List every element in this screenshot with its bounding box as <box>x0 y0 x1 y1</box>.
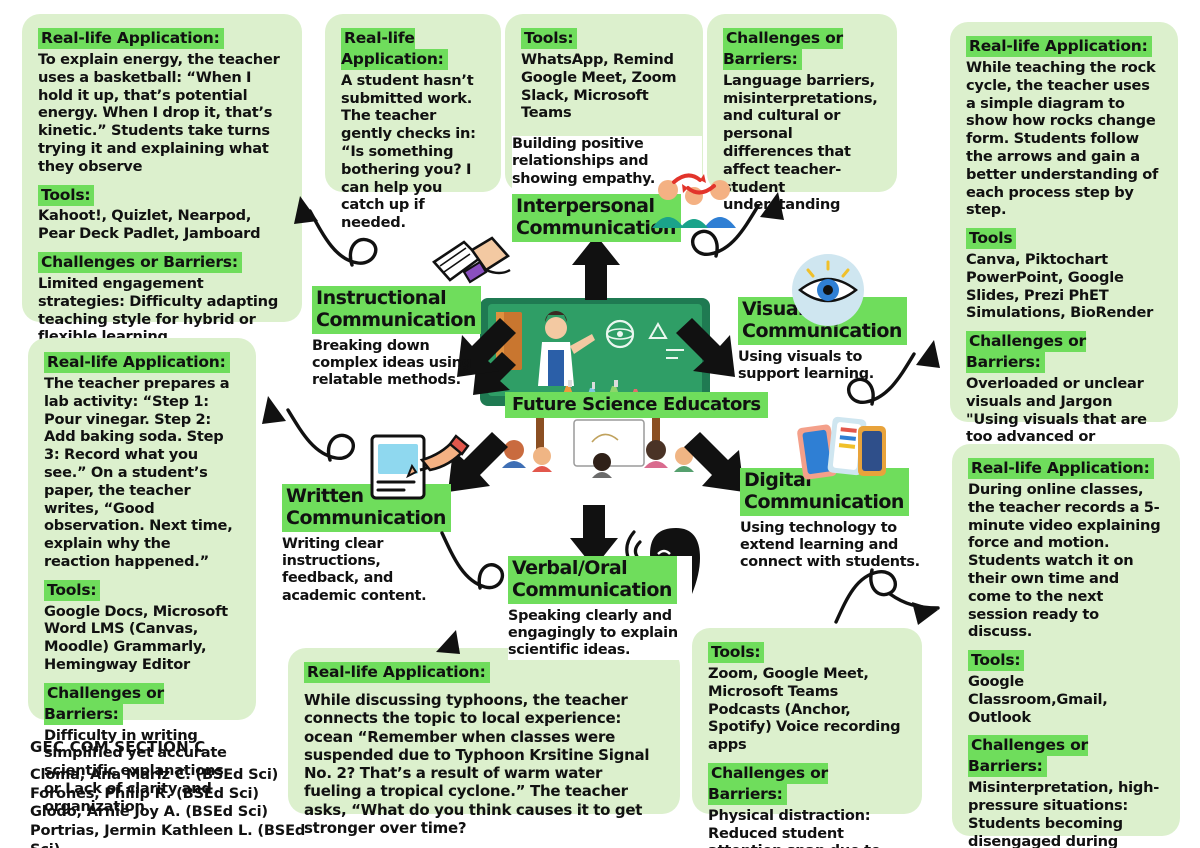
interpersonal-application-heading: Real-life Application: <box>341 28 448 70</box>
instructional-challenges-text: Limited engagement strategies: Difficult… <box>38 275 286 346</box>
node-digital-desc: Using technology to extend learning and … <box>740 520 922 572</box>
visual-application-heading: Real-life Application: <box>966 36 1152 57</box>
credits-member: Cloma, Ana Mariz C. (BSEd Sci) <box>30 766 320 785</box>
card-verbal-application: Real-life Application: While discussing … <box>288 648 680 814</box>
written-tools-heading: Tools: <box>44 580 100 601</box>
verbal-application-heading: Real-life Application: <box>304 662 490 683</box>
node-verbal: Verbal/Oral Communication Speaking clear… <box>508 556 692 660</box>
verbal-tools-heading: Tools: <box>708 642 764 663</box>
digital-challenges-heading: Challenges or Barriers: <box>968 735 1088 777</box>
node-verbal-title: Verbal/Oral Communication <box>508 556 677 604</box>
digital-challenges-text: Misinterpretation, high-pressure situati… <box>968 779 1164 848</box>
card-verbal-tools: Tools: Zoom, Google Meet, Microsoft Team… <box>692 628 922 814</box>
visual-tools-heading: Tools <box>966 228 1016 249</box>
writing-hand-icon <box>368 430 476 506</box>
node-written-desc: Writing clear instructions, feedback, an… <box>282 536 456 605</box>
instructional-tools-text: Kahoot!, Quizlet, Nearpod, Pear Deck Pad… <box>38 207 286 243</box>
written-challenges-heading: Challenges or Barriers: <box>44 683 164 725</box>
instructional-tools-heading: Tools: <box>38 185 94 206</box>
card-instructional: Real-life Application: To explain energy… <box>22 14 302 322</box>
card-digital: Real-life Application: During online cla… <box>952 444 1180 836</box>
credits-member: Portrias, Jermin Kathleen L. (BSEd Sci) <box>30 822 320 848</box>
digital-application-text: During online classes, the teacher recor… <box>968 481 1164 641</box>
credits-member: Glodo, Arnie Joy A. (BSEd Sci) <box>30 803 320 822</box>
verbal-challenges-heading: Challenges or Barriers: <box>708 763 828 805</box>
card-interpersonal-challenges: Challenges or Barriers: Language barrier… <box>707 14 897 192</box>
interpersonal-challenges-heading: Challenges or Barriers: <box>723 28 843 70</box>
instructional-challenges-heading: Challenges or Barriers: <box>38 252 242 273</box>
node-visual-desc: Using visuals to support learning. <box>738 349 908 384</box>
verbal-challenges-text: Physical distraction: Reduced student at… <box>708 807 906 848</box>
interpersonal-tools-text: WhatsApp, Remind Google Meet, Zoom Slack… <box>521 51 687 122</box>
digital-tools-text: Google Classroom,Gmail, Outlook <box>968 673 1164 726</box>
open-book-icon <box>428 232 514 304</box>
instructional-application-heading: Real-life Application: <box>38 28 224 49</box>
visual-application-text: While teaching the rock cycle, the teach… <box>966 59 1162 219</box>
squiggle-arrow-left-icon <box>262 396 353 460</box>
verbal-application-text: While discussing typhoons, the teacher c… <box>304 691 664 837</box>
written-application-text: The teacher prepares a lab activity: “St… <box>44 375 240 571</box>
card-written: Real-life Application: The teacher prepa… <box>28 338 256 720</box>
written-tools-text: Google Docs, Microsoft Word LMS (Canvas,… <box>44 603 240 674</box>
central-classroom-illustration <box>470 290 720 490</box>
node-instructional-desc: Breaking down complex ideas using relata… <box>312 338 480 390</box>
digital-application-heading: Real-life Application: <box>968 458 1154 479</box>
people-handshake-icon <box>648 172 740 234</box>
interpersonal-challenges-text: Language barriers, misinterpretations, a… <box>723 72 881 214</box>
node-verbal-desc: Speaking clearly and engagingly to expla… <box>508 608 692 660</box>
digital-devices-icon <box>796 412 888 486</box>
credits-block: GEC COM SECTION C Cloma, Ana Mariz C. (B… <box>30 738 320 848</box>
interpersonal-tools-heading: Tools: <box>521 28 577 49</box>
instructional-application-text: To explain energy, the teacher uses a ba… <box>38 51 286 176</box>
visual-challenges-heading: Challenges or Barriers: <box>966 331 1086 373</box>
squiggle-arrow-bottomright-icon <box>836 570 938 625</box>
card-interpersonal-application: Real-life Application: A student hasn’t … <box>325 14 501 192</box>
verbal-tools-text: Zoom, Google Meet, Microsoft Teams Podca… <box>708 665 906 754</box>
interpersonal-application-text: A student hasn’t submitted work. The tea… <box>341 72 485 232</box>
eye-visual-icon <box>790 252 866 328</box>
credits-member: Forones, Philip R. (BSEd Sci) <box>30 785 320 804</box>
infographic-canvas: Real-life Application: To explain energy… <box>0 0 1200 848</box>
digital-tools-heading: Tools: <box>968 650 1024 671</box>
hub-label-future-science-educators: Future Science Educators <box>505 392 768 418</box>
visual-tools-text: Canva, Piktochart PowerPoint, Google Sli… <box>966 251 1162 322</box>
credits-section-title: GEC COM SECTION C <box>30 738 320 756</box>
written-application-heading: Real-life Application: <box>44 352 230 373</box>
card-visual: Real-life Application: While teaching th… <box>950 22 1178 422</box>
